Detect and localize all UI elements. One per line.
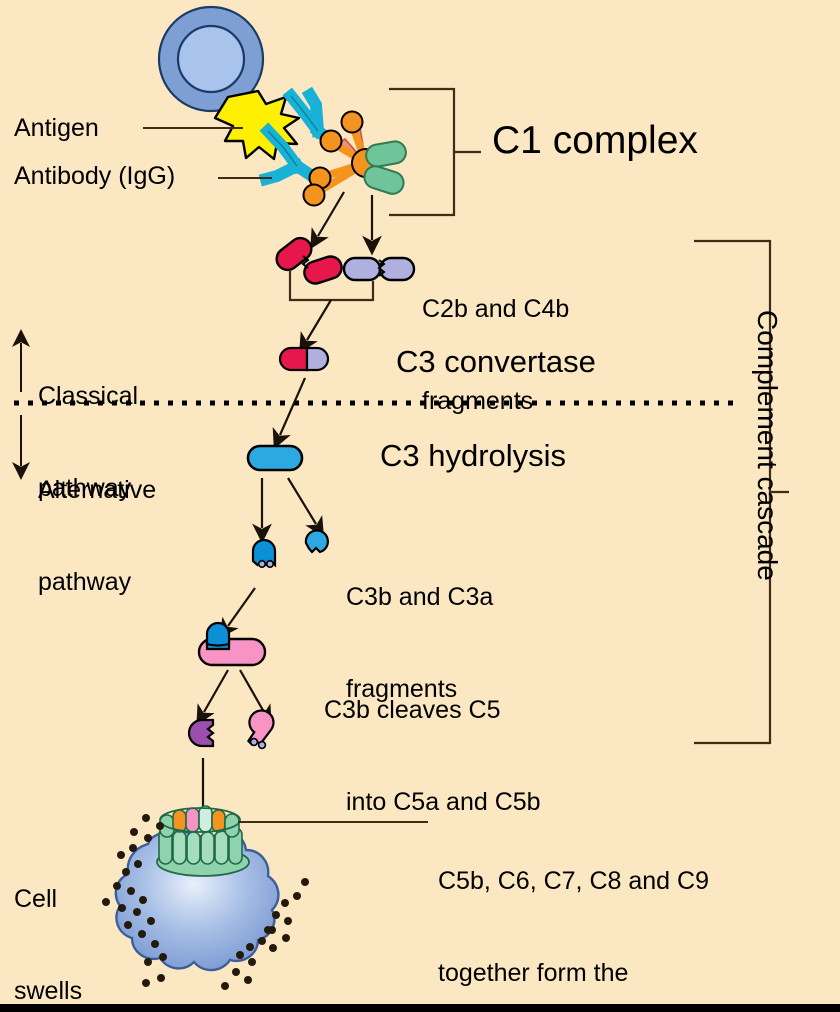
c5b-fragment bbox=[244, 709, 276, 748]
arrow-c5-to-c5b bbox=[240, 670, 264, 712]
arrow-convertase-to-c3 bbox=[280, 378, 305, 435]
alternative-line-2: pathway bbox=[38, 567, 156, 598]
c4b-fragment bbox=[344, 258, 414, 280]
c3-hydrolysis-label: C3 hydrolysis bbox=[380, 437, 566, 475]
cell-line-2: swells bbox=[14, 976, 82, 1007]
c5-with-c3b bbox=[199, 623, 265, 665]
mac-line-2: together form the bbox=[438, 958, 709, 989]
classical-line-1: Classical bbox=[38, 381, 138, 412]
antigen-label: Antigen bbox=[14, 113, 99, 144]
alternative-pathway-label: Alternative pathway bbox=[38, 414, 156, 658]
c2b-c4b-line-1: C2b and C4b bbox=[422, 294, 569, 325]
c3-convertase-label: C3 convertase bbox=[396, 343, 596, 381]
arrow-to-c3-convertase bbox=[307, 300, 331, 340]
arrow-c3-to-c3a bbox=[288, 478, 316, 524]
complement-cascade-label: Complement cascade bbox=[751, 310, 783, 581]
diagram-canvas: Antigen Antibody (IgG) C1 complex C2b an… bbox=[0, 0, 840, 1012]
arrow-c5-to-c5a bbox=[204, 670, 228, 712]
c3b-fragment bbox=[253, 540, 275, 567]
mac-line-1: C5b, C6, C7, C8 and C9 bbox=[438, 866, 709, 897]
c2b-c4b-line-2: fragments bbox=[422, 386, 569, 417]
membrane-attack-complex-label: C5b, C6, C7, C8 and C9 together form the… bbox=[438, 805, 709, 1012]
cell-line-1: Cell bbox=[14, 884, 82, 915]
c5a-fragment bbox=[189, 720, 213, 746]
c3-fragments-line-1: C3b and C3a bbox=[346, 582, 493, 613]
c5-cleave-line-1: C3b cleaves C5 bbox=[324, 695, 541, 726]
alternative-line-1: Alternative bbox=[38, 475, 156, 506]
c3a-fragment bbox=[306, 530, 328, 552]
bottom-border bbox=[0, 1004, 840, 1012]
arrow-c3b-to-c5 bbox=[228, 588, 255, 626]
c2b-fragment bbox=[272, 234, 344, 287]
c1-complex-label: C1 complex bbox=[492, 117, 698, 165]
c3-convertase-molecule bbox=[280, 348, 328, 370]
cell-lysis-label: Cell swells and bursts bbox=[14, 823, 82, 1012]
c3-molecule bbox=[248, 446, 302, 470]
membrane-attack-complex bbox=[157, 806, 249, 876]
antibody-label: Antibody (IgG) bbox=[14, 161, 175, 192]
